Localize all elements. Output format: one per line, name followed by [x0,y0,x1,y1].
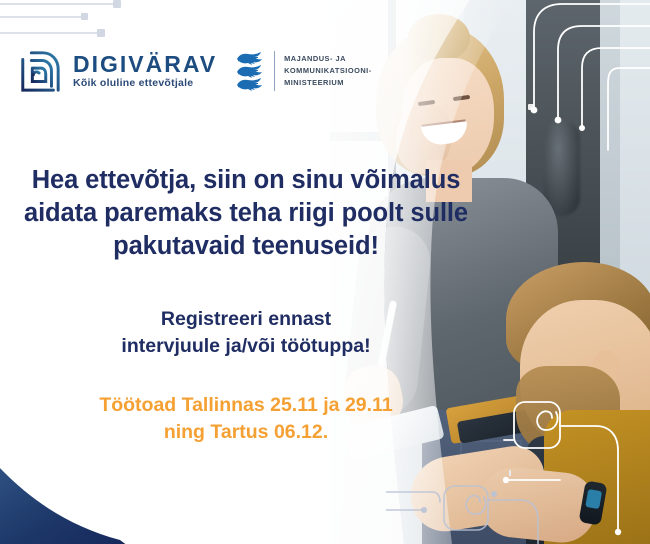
digivarav-tagline: Kõik oluline ettevõtjale [73,78,217,89]
headline: Hea ettevõtja, siin on sinu võimalus aid… [0,164,492,263]
logo-divider [274,51,275,91]
digivarav-logo[interactable]: DIGIVÄRAV Kõik oluline ettevõtjale [18,48,217,94]
subheadline-line-2: intervjuule ja/või töötuppa! [0,333,492,360]
poster-canvas: DIGIVÄRAV Kõik oluline ettevõtjale [0,0,650,544]
subheadline: Registreeri ennast intervjuule ja/või tö… [0,306,492,360]
headline-line-2: aidata paremaks teha riigi poolt sulle [0,197,492,230]
woman-hair-bun [408,14,470,62]
digivarav-name: DIGIVÄRAV [73,53,217,76]
logo-lockup: DIGIVÄRAV Kõik oluline ettevõtjale [18,48,372,94]
headline-line-1: Hea ettevõtja, siin on sinu võimalus [0,164,492,197]
ministry-line-1: Majandus- ja [284,53,372,65]
dates-line-1: Töötoad Tallinnas 25.11 ja 29.11 [0,392,492,419]
headline-line-3: pakutavaid teenuseid! [0,230,492,263]
circuit-trace-lines-topleft [0,0,180,50]
door-handle [544,120,580,216]
navy-corner-wedge [0,438,196,544]
ministry-logo[interactable]: Majandus- ja Kommunikatsiooni- Ministeer… [235,51,372,91]
estonia-coat-of-arms-icon [235,51,265,91]
dates-line-2: ning Tartus 06.12. [0,419,492,446]
workshop-dates: Töötoad Tallinnas 25.11 ja 29.11 ning Ta… [0,392,492,446]
ministry-line-2: Kommunikatsiooni- [284,65,372,77]
photo-background [330,0,650,544]
digivarav-spiral-mark-icon [18,48,62,94]
ministry-name: Majandus- ja Kommunikatsiooni- Ministeer… [284,53,372,89]
ministry-line-3: Ministeerium [284,77,372,89]
subheadline-line-1: Registreeri ennast [0,306,492,333]
